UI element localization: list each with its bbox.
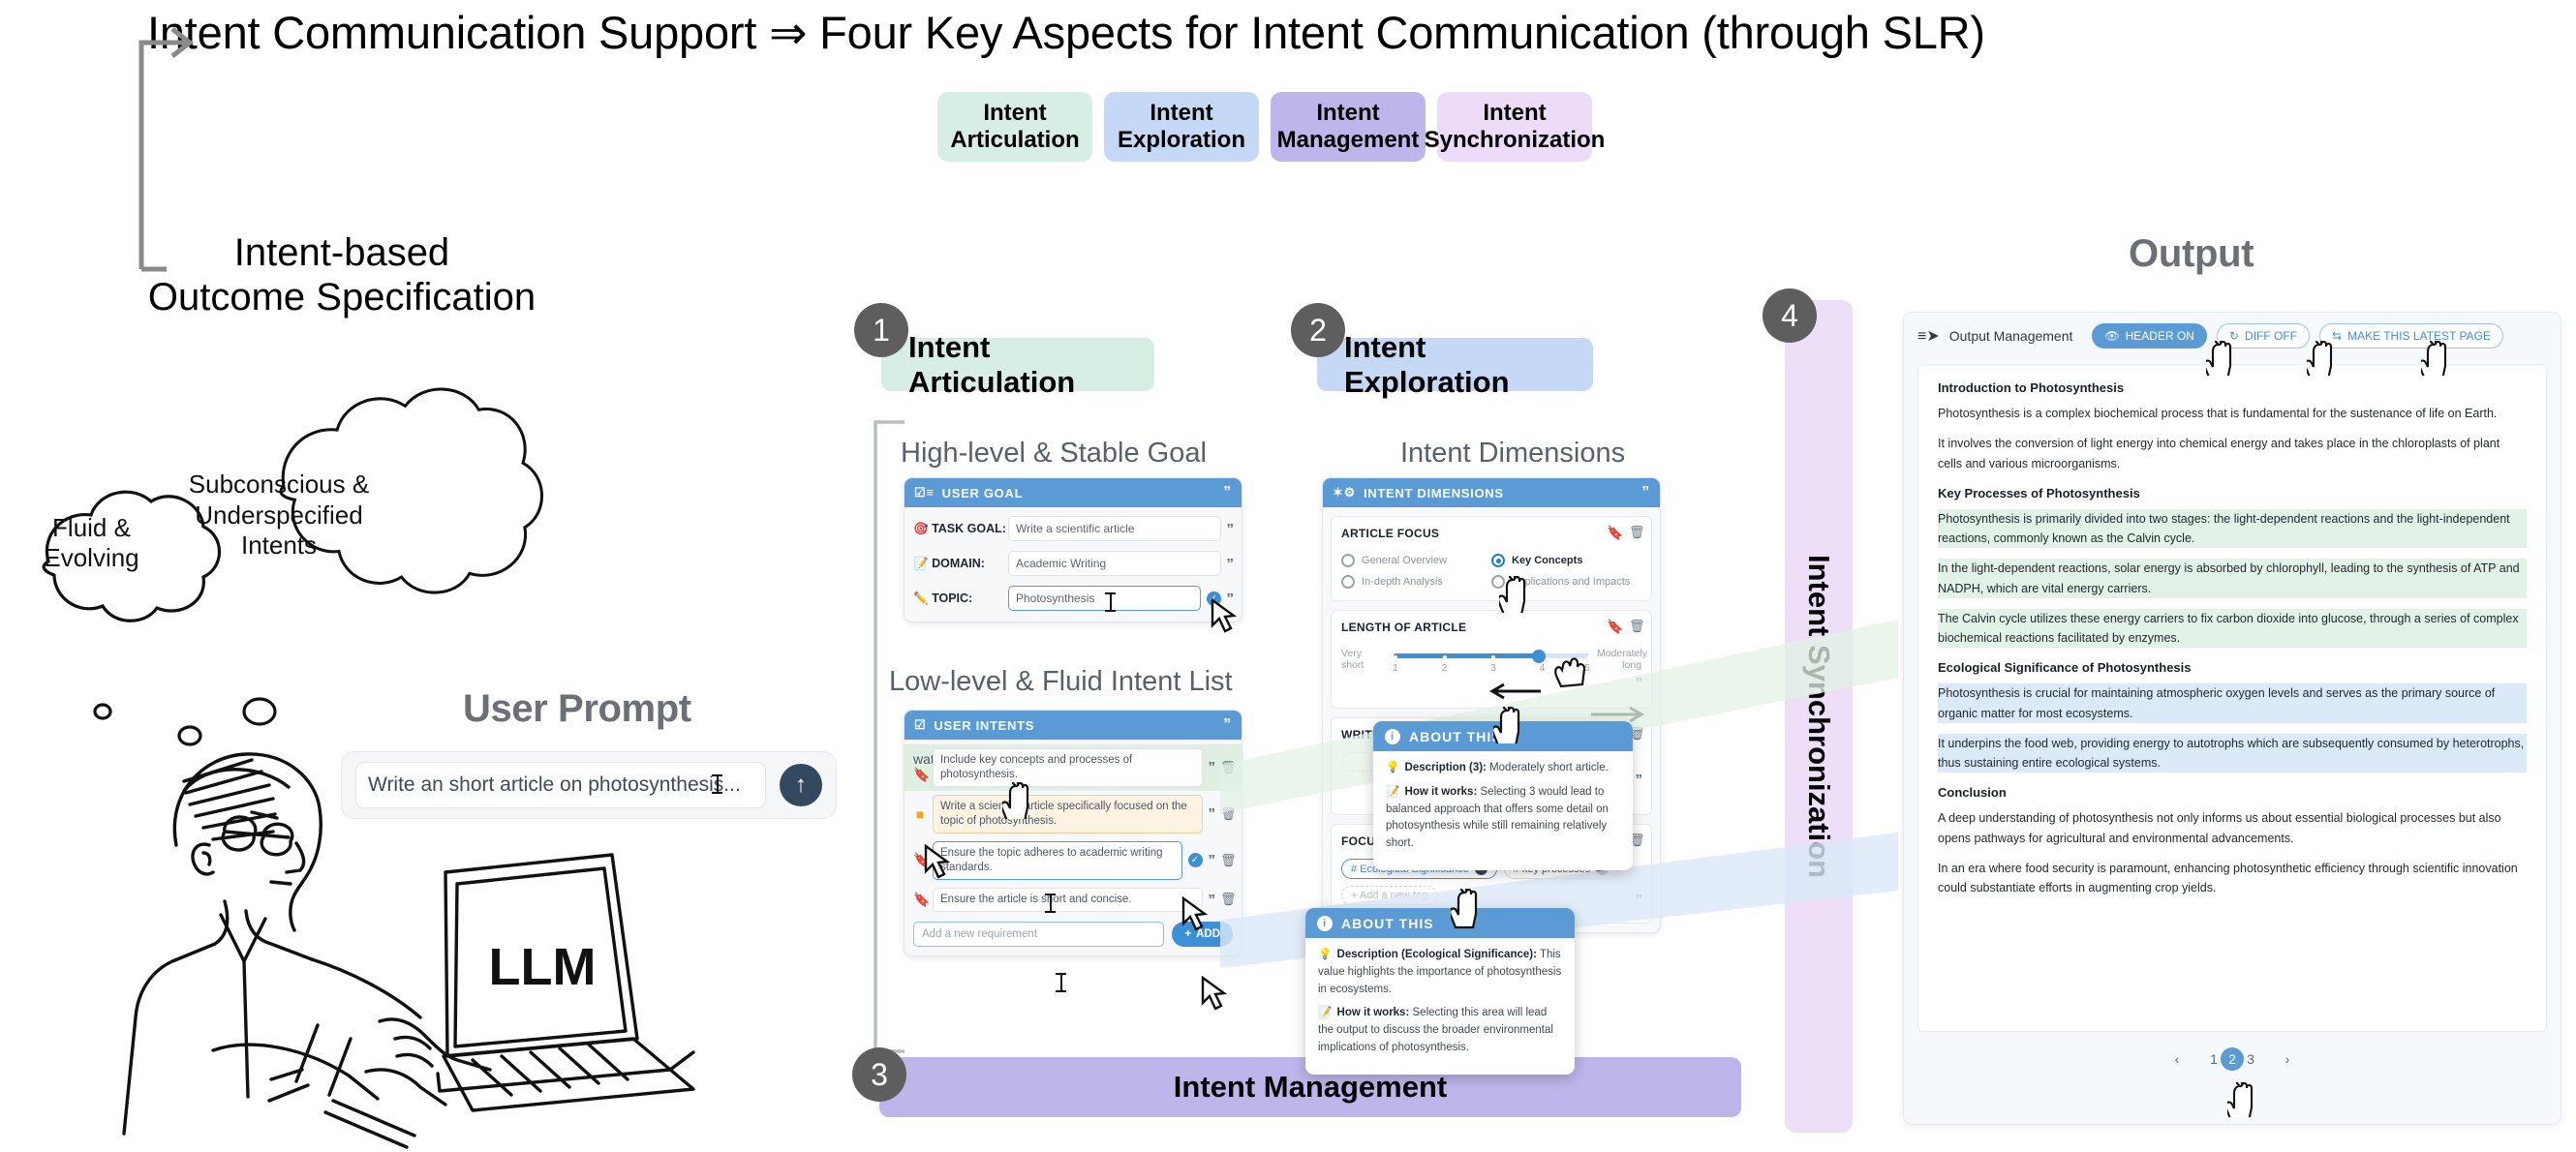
stage-label-2: Intent Exploration: [1317, 338, 1593, 391]
add-requirement-button[interactable]: + ADD: [1172, 922, 1233, 947]
doc-paragraph-highlighted: Photosynthesis is primarily divided into…: [1938, 509, 2527, 549]
text-cursor-intent-3: [1045, 894, 1056, 913]
task-goal-input[interactable]: Write a scientific article: [1008, 516, 1221, 541]
bubble-small-text: Fluid & Evolving: [21, 513, 162, 573]
aspect-chip-line2: Exploration: [1118, 127, 1245, 154]
user-prompt-box: Write an short article on photosynthesis…: [341, 751, 837, 819]
intent-list-item: watch;🔖 Include key concepts and process…: [905, 744, 1242, 791]
swap-icon: ⇆: [2332, 329, 2342, 343]
user-intents-card-header: ☑ USER INTENTS ”: [905, 711, 1242, 740]
bookmark-icon[interactable]: 🔖: [1607, 525, 1620, 541]
text-cursor-topic: [1105, 592, 1116, 612]
dimension-article-focus: ARTICLE FOCUS 🔖 🗑 General Overview Key C…: [1331, 516, 1652, 601]
doc-paragraph-highlighted: The Calvin cycle utilizes these energy c…: [1938, 609, 2527, 649]
output-pagination: ‹ 1 2 3 ›: [1904, 1047, 2561, 1071]
user-intents-card-title: USER INTENTS: [934, 718, 1034, 733]
intent-dimensions-caption: Intent Dimensions: [1400, 438, 1625, 470]
user-goal-card: ☑≡ USER GOAL ” 🎯 TASK GOAL: Write a scie…: [904, 477, 1242, 622]
intent-dimensions-card-title: INTENT DIMENSIONS: [1364, 486, 1504, 500]
eye-icon: 👁: [2104, 329, 2119, 343]
checkbox-icon: ☑: [914, 717, 926, 733]
info-icon: i: [1385, 729, 1400, 744]
bubble-small-line-2: Evolving: [21, 543, 162, 573]
dimension-title: ARTICLE FOCUS: [1341, 527, 1439, 540]
domain-input[interactable]: Academic Writing: [1008, 551, 1221, 576]
text-cursor-prompt: [712, 774, 722, 794]
doc-paragraph: Photosynthesis is a complex biochemical …: [1938, 404, 2527, 423]
aspect-chip-exploration[interactable]: Intent Exploration: [1104, 92, 1259, 162]
output-panel: ≡➤ Output Management 👁 HEADER ON ↻ DIFF …: [1903, 312, 2561, 1125]
quote-icon[interactable]: ”: [1223, 716, 1232, 734]
memo-icon: 📝: [1318, 1007, 1332, 1018]
delete-icon[interactable]: 🗑: [1629, 619, 1641, 635]
quote-icon[interactable]: ”: [1636, 675, 1642, 691]
user-intents-card: ☑ USER INTENTS ” watch;🔖 Include key con…: [904, 710, 1242, 956]
quote-icon[interactable]: ”: [1209, 892, 1215, 908]
delete-icon[interactable]: 🗑: [1220, 853, 1233, 868]
doc-heading: Ecological Significance of Photosynthesi…: [1938, 660, 2527, 675]
bubble-large-line-3: Intents: [172, 531, 385, 561]
doc-paragraph: A deep understanding of photosynthesis n…: [1938, 808, 2527, 848]
edit-list-icon: ≡➤: [1917, 326, 1940, 346]
stage-label-4-text: Intent Synchronization: [1801, 555, 1836, 878]
focus-area-add-tag[interactable]: + Add a new tag: [1341, 886, 1437, 905]
delete-icon[interactable]: 🗑: [1220, 760, 1233, 775]
tooltip-how-it-works: 📝 How it works: Selecting 3 would lead t…: [1386, 784, 1620, 853]
delete-icon[interactable]: 🗑: [1220, 892, 1233, 907]
new-requirement-input[interactable]: Add a new requirement: [913, 922, 1164, 947]
slider-tick: 1: [1393, 663, 1398, 674]
output-title: Output: [2129, 232, 2254, 276]
doc-paragraph-highlighted: In the light-dependent reactions, solar …: [1938, 559, 2527, 598]
slider-min-label: Very short: [1341, 648, 1386, 671]
intent-list-item: ■ Write a scientific article specificall…: [905, 791, 1242, 837]
intent-item-text[interactable]: Ensure the topic adheres to academic wri…: [933, 841, 1182, 880]
intent-item-text[interactable]: Include key concepts and processes of ph…: [933, 748, 1203, 787]
text-cursor-add-requirement: [1056, 973, 1066, 992]
add-requirement-row: Add a new requirement + ADD: [905, 916, 1242, 955]
output-panel-title: Output Management: [1949, 328, 2073, 344]
intent-dimensions-card-header: ✶⚙ INTENT DIMENSIONS ”: [1323, 478, 1660, 507]
four-key-aspects-chips: Intent Articulation Intent Exploration I…: [937, 92, 1592, 162]
radio-key-concepts[interactable]: Key Concepts: [1491, 550, 1641, 571]
checklist-icon: ☑≡: [914, 485, 935, 500]
radio-icon: [1491, 575, 1505, 589]
doc-heading: Key Processes of Photosynthesis: [1938, 486, 2527, 500]
bulb-icon: 💡: [1386, 762, 1399, 773]
radio-applications-and-impacts[interactable]: Applications and Impacts: [1491, 571, 1641, 592]
llm-screen-label: LLM: [489, 938, 597, 996]
dimension-title: LENGTH OF ARTICLE: [1341, 621, 1466, 634]
aspect-chip-line2: Synchronization: [1425, 127, 1606, 154]
stage-label-3-text: Intent Management: [1174, 1070, 1447, 1105]
confirm-topic-icon[interactable]: ✓: [1207, 591, 1221, 606]
user-goal-card-title: USER GOAL: [942, 486, 1024, 500]
stage-badge-1: 1: [854, 303, 908, 357]
goal-row-topic: ✏️ TOPIC: Photosynthesis ✓ ”: [905, 581, 1242, 616]
prev-page-button[interactable]: ‹: [2165, 1047, 2189, 1071]
bookmark-icon[interactable]: watch;🔖: [913, 751, 927, 783]
diff-toggle-button[interactable]: ↻ DIFF OFF: [2217, 323, 2310, 349]
doc-heading: Introduction to Photosynthesis: [1938, 380, 2527, 395]
output-document: Introduction to Photosynthesis Photosynt…: [1917, 364, 2547, 1032]
intent-based-outcome-specification-title: Intent-based Outcome Specification: [138, 230, 545, 319]
tooltip-how-it-works: 📝 How it works: Selecting this area will…: [1318, 1005, 1562, 1056]
stage-label-2-text: Intent Exploration: [1344, 330, 1593, 400]
header-toggle-button[interactable]: 👁 HEADER ON: [2092, 323, 2207, 349]
bookmark-icon[interactable]: 🔖: [913, 892, 927, 908]
make-latest-page-button[interactable]: ⇆ MAKE THIS LATEST PAGE: [2319, 323, 2503, 349]
intent-list-item: 🔖 Ensure the topic adheres to academic w…: [905, 837, 1242, 884]
stage-badge-4: 4: [1763, 288, 1817, 343]
goal-row-label: ✏️ TOPIC:: [913, 591, 1002, 606]
quote-icon[interactable]: ”: [1209, 805, 1215, 822]
tooltip-title: ABOUT THIS: [1341, 916, 1434, 931]
aspect-chip-line1: Intent: [1316, 100, 1379, 127]
mouse-pointer-add-button: [1199, 976, 1228, 1013]
dimension-length-of-article: LENGTH OF ARTICLE 🔖 🗑 Very short 1 2 3 4…: [1331, 610, 1652, 709]
plus-icon: +: [1184, 928, 1191, 940]
bubble-large-text: Subconscious & Underspecified Intents: [172, 470, 385, 561]
low-level-intent-caption: Low-level & Fluid Intent List: [889, 666, 1233, 698]
aspect-chip-line2: Management: [1277, 127, 1420, 154]
length-slider[interactable]: 1 2 3 4 5: [1394, 648, 1589, 673]
slider-handle[interactable]: [1532, 650, 1546, 663]
bubble-large-line-2: Underspecified: [172, 500, 385, 531]
quote-icon[interactable]: ”: [1209, 759, 1215, 775]
page-title: Intent Communication Support ⇒ Four Key …: [147, 6, 1985, 60]
aspect-chip-line2: Articulation: [950, 127, 1079, 154]
goal-row-domain: 📝 DOMAIN: Academic Writing ”: [905, 546, 1242, 581]
slider-max-label: Moderately long: [1597, 648, 1641, 671]
send-prompt-button[interactable]: ↑: [780, 764, 822, 806]
intent-item-text[interactable]: Ensure the article is short and concise.: [933, 888, 1203, 912]
slider-tick: 5: [1584, 663, 1590, 674]
slider-tick: 2: [1442, 663, 1448, 674]
history-icon: ↻: [2229, 329, 2239, 343]
intent-list-item: 🔖 Ensure the article is short and concis…: [905, 884, 1242, 916]
spec-title-line-1: Intent-based: [138, 230, 545, 275]
bubble-large-line-1: Subconscious &: [172, 470, 385, 500]
quote-icon[interactable]: ”: [1209, 852, 1215, 868]
tooltip-header: i ABOUT THIS: [1305, 908, 1575, 938]
slider-tick: 3: [1490, 663, 1496, 674]
aspect-chip-line1: Intent: [1483, 100, 1546, 127]
radio-icon: [1341, 575, 1355, 589]
next-page-button[interactable]: ›: [2276, 1047, 2299, 1071]
tooltip-header: i ABOUT THIS: [1373, 721, 1633, 751]
stage-badge-3: 3: [852, 1047, 906, 1102]
quote-icon[interactable]: ”: [1636, 892, 1642, 908]
prompt-input[interactable]: Write an short article on photosynthesis…: [355, 762, 766, 808]
tooltip-description: 💡 Description (Ecological Significance):…: [1318, 947, 1562, 998]
page-button-1[interactable]: 1: [2202, 1047, 2225, 1071]
quote-icon[interactable]: ”: [1223, 484, 1232, 501]
high-level-goal-caption: High-level & Stable Goal: [901, 438, 1207, 470]
goal-row-label: 📝 DOMAIN:: [913, 557, 1002, 571]
tooltip-description: 💡 Description (3): Moderately short arti…: [1386, 760, 1620, 777]
delete-icon[interactable]: 🗑: [1629, 525, 1641, 541]
doc-paragraph: In an era where food security is paramou…: [1938, 859, 2527, 898]
aspect-chip-synchronization[interactable]: Intent Synchronization: [1437, 92, 1592, 162]
tooltip-title: ABOUT THIS: [1409, 729, 1502, 744]
slider-tick: 4: [1540, 663, 1546, 674]
bookmark-icon[interactable]: 🔖: [913, 852, 927, 868]
doc-heading: Conclusion: [1938, 785, 2527, 800]
stage-label-1: Intent Articulation: [881, 338, 1154, 391]
about-this-tooltip-focus-area: i ABOUT THIS 💡 Description (Ecological S…: [1305, 908, 1575, 1075]
info-icon: i: [1317, 916, 1333, 931]
pencil-icon: ✏️: [913, 591, 929, 605]
aspect-chip-management[interactable]: Intent Management: [1271, 92, 1426, 162]
page-button-3[interactable]: 3: [2239, 1047, 2262, 1071]
user-goal-card-header: ☑≡ USER GOAL ”: [905, 478, 1242, 507]
user-prompt-title: User Prompt: [463, 687, 691, 731]
memo-icon: 📝: [913, 557, 929, 570]
intent-item-text[interactable]: Write a scientific article specifically …: [933, 795, 1203, 834]
quote-icon[interactable]: ”: [1641, 484, 1650, 501]
bookmark-icon[interactable]: 🔖: [1607, 619, 1620, 635]
doc-paragraph: It involves the conversion of light ener…: [1938, 434, 2527, 473]
stage-label-4: Intent Synchronization: [1785, 300, 1853, 1133]
doc-paragraph-highlighted: Photosynthesis is crucial for maintainin…: [1938, 683, 2527, 723]
goal-row-label: 🎯 TASK GOAL:: [913, 522, 1002, 536]
bookmark-icon[interactable]: ■: [913, 806, 927, 822]
radio-icon: [1341, 554, 1355, 567]
goal-row-task-goal: 🎯 TASK GOAL: Write a scientific article …: [905, 511, 1242, 546]
stage-label-1-text: Intent Articulation: [908, 330, 1154, 400]
aspect-chip-articulation[interactable]: Intent Articulation: [937, 92, 1092, 162]
stage-badge-2: 2: [1291, 303, 1345, 357]
memo-icon: 📝: [1386, 786, 1399, 798]
delete-icon[interactable]: 🗑: [1220, 806, 1233, 822]
tune-icon: ✶⚙: [1333, 485, 1356, 500]
output-toolbar: ≡➤ Output Management 👁 HEADER ON ↻ DIFF …: [1904, 313, 2561, 358]
quote-icon[interactable]: ”: [1227, 591, 1234, 607]
spec-title-line-2: Outcome Specification: [138, 275, 545, 319]
quote-icon[interactable]: ”: [1227, 521, 1234, 537]
about-this-tooltip-length: i ABOUT THIS 💡 Description (3): Moderate…: [1373, 721, 1633, 870]
confirm-intent-icon[interactable]: ✓: [1188, 853, 1203, 867]
bulb-icon: 💡: [1318, 949, 1332, 960]
radio-icon-selected: [1491, 554, 1505, 567]
quote-icon[interactable]: ”: [1227, 556, 1234, 572]
bubble-small-line-1: Fluid &: [21, 513, 162, 543]
aspect-chip-line1: Intent: [983, 100, 1046, 127]
radio-in-depth-analysis[interactable]: In-depth Analysis: [1341, 571, 1491, 592]
radio-general-overview[interactable]: General Overview: [1341, 550, 1491, 571]
quote-icon[interactable]: ”: [1636, 772, 1642, 788]
doc-paragraph-highlighted: It underpins the food web, providing ene…: [1938, 734, 2527, 773]
aspect-chip-line1: Intent: [1150, 100, 1212, 127]
target-icon: 🎯: [913, 522, 929, 535]
